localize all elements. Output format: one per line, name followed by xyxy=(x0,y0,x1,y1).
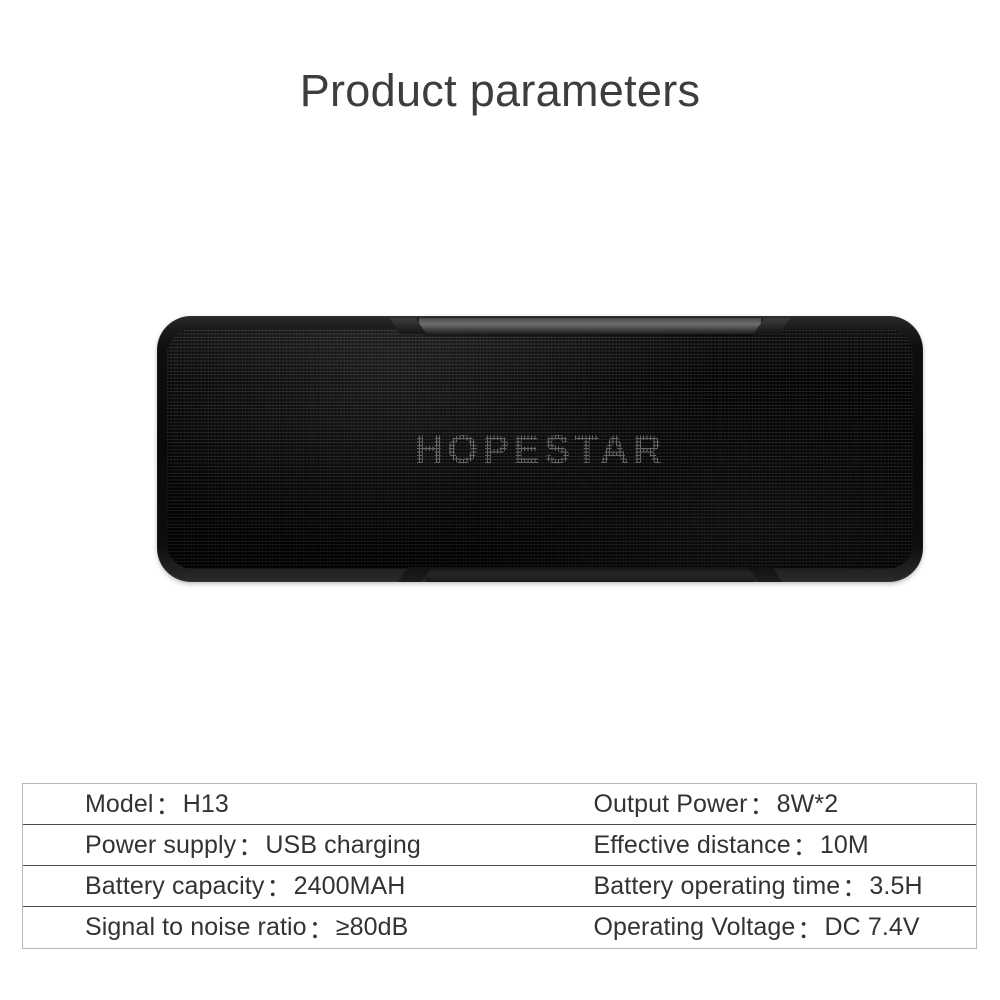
spec-separator: ： xyxy=(264,868,293,904)
spec-table: Model ： H13 Output Power ： 8W*2 Power su… xyxy=(22,783,977,949)
spec-value: 10M xyxy=(820,831,869,860)
table-row: Power supply ： USB charging Effective di… xyxy=(23,825,976,866)
speaker-body: HOPESTAR xyxy=(157,316,923,582)
spec-label: Operating Voltage xyxy=(594,913,796,942)
spec-separator: ： xyxy=(795,910,824,946)
spec-cell-signal-to-noise-ratio: Signal to noise ratio ： ≥80dB xyxy=(23,907,500,948)
spec-label: Signal to noise ratio xyxy=(85,913,307,942)
table-row: Battery capacity ： 2400MAH Battery opera… xyxy=(23,866,976,907)
spec-separator: ： xyxy=(840,868,869,904)
spec-cell-battery-capacity: Battery capacity ： 2400MAH xyxy=(23,866,500,906)
spec-label: Effective distance xyxy=(594,831,791,860)
spec-value: USB charging xyxy=(265,831,420,860)
spec-value: DC 7.4V xyxy=(824,913,919,942)
speaker-bottom-notch xyxy=(425,567,755,582)
spec-cell-operating-voltage: Operating Voltage ： DC 7.4V xyxy=(500,907,977,948)
spec-label: Output Power xyxy=(594,790,748,819)
spec-separator: ： xyxy=(236,827,265,863)
product-image: HOPESTAR xyxy=(40,256,1000,656)
spec-value: ≥80dB xyxy=(336,913,409,942)
table-row: Model ： H13 Output Power ： 8W*2 xyxy=(23,784,976,825)
spec-separator: ： xyxy=(748,786,777,822)
spec-value: 8W*2 xyxy=(777,790,839,819)
spec-separator: ： xyxy=(791,827,820,863)
spec-cell-output-power: Output Power ： 8W*2 xyxy=(500,784,977,824)
spec-label: Model xyxy=(85,790,154,819)
grille-sheen xyxy=(167,329,913,569)
spec-label: Battery operating time xyxy=(594,872,841,901)
spec-cell-model: Model ： H13 xyxy=(23,784,500,824)
spec-value: 3.5H xyxy=(869,872,922,901)
spec-value: 2400MAH xyxy=(294,872,406,901)
spec-cell-power-supply: Power supply ： USB charging xyxy=(23,825,500,865)
spec-cell-effective-distance: Effective distance ： 10M xyxy=(500,825,977,865)
spec-cell-battery-operating-time: Battery operating time ： 3.5H xyxy=(500,866,977,906)
spec-label: Power supply xyxy=(85,831,236,860)
speaker-grille xyxy=(167,329,913,569)
table-row: Signal to noise ratio ： ≥80dB Operating … xyxy=(23,907,976,948)
spec-label: Battery capacity xyxy=(85,872,264,901)
spec-separator: ： xyxy=(154,786,183,822)
spec-value: H13 xyxy=(183,790,229,819)
page-title: Product parameters xyxy=(0,64,1000,118)
speaker-top-strip xyxy=(419,318,761,334)
spec-separator: ： xyxy=(307,910,336,946)
